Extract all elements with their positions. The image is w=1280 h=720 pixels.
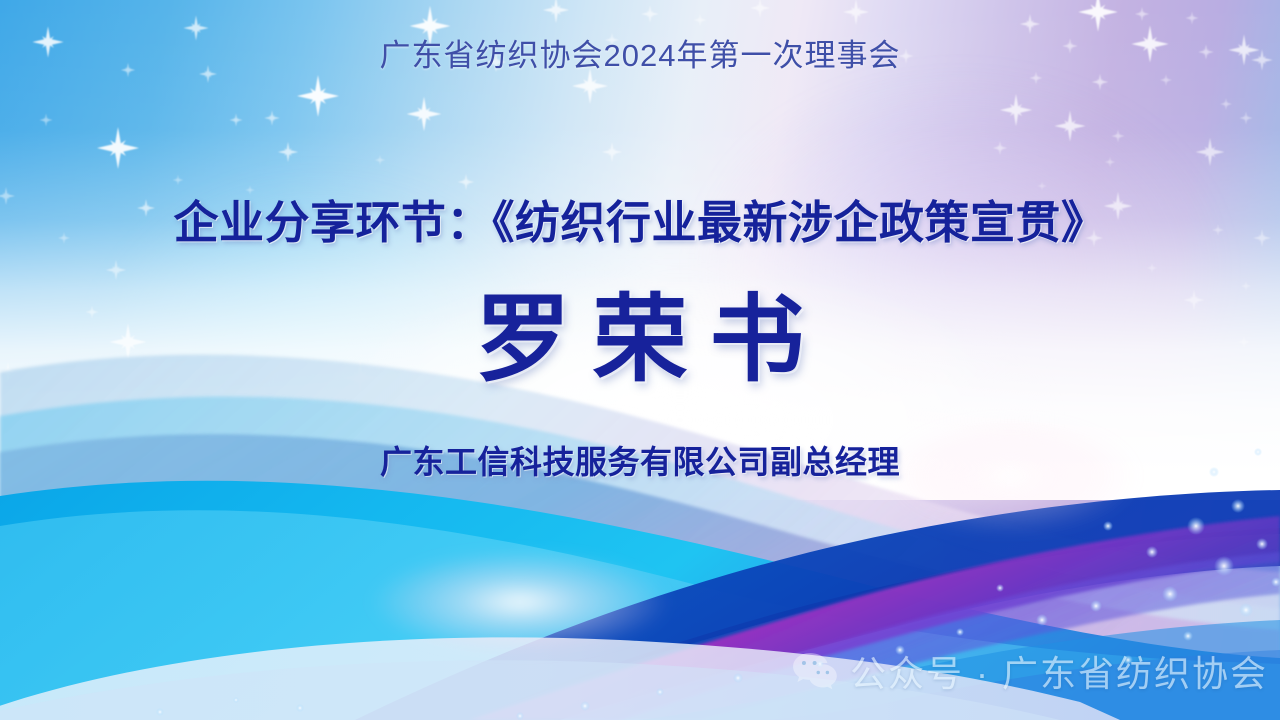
speaker-position: 广东工信科技服务有限公司副总经理 bbox=[0, 437, 1280, 483]
wechat-watermark: 公众号 · 广东省纺织协会 bbox=[792, 645, 1268, 697]
watermark-text: 公众号 · 广东省纺织协会 bbox=[850, 645, 1268, 697]
presentation-slide: 广东省纺织协会2024年第一次理事会 企业分享环节：《纺织行业最新涉企政策宣贯》… bbox=[0, 0, 1280, 720]
session-title: 企业分享环节：《纺织行业最新涉企政策宣贯》 bbox=[0, 186, 1280, 251]
speaker-name: 罗荣书 bbox=[0, 292, 1280, 389]
wechat-icon bbox=[792, 651, 838, 691]
event-header-title: 广东省纺织协会2024年第一次理事会 bbox=[0, 30, 1280, 75]
